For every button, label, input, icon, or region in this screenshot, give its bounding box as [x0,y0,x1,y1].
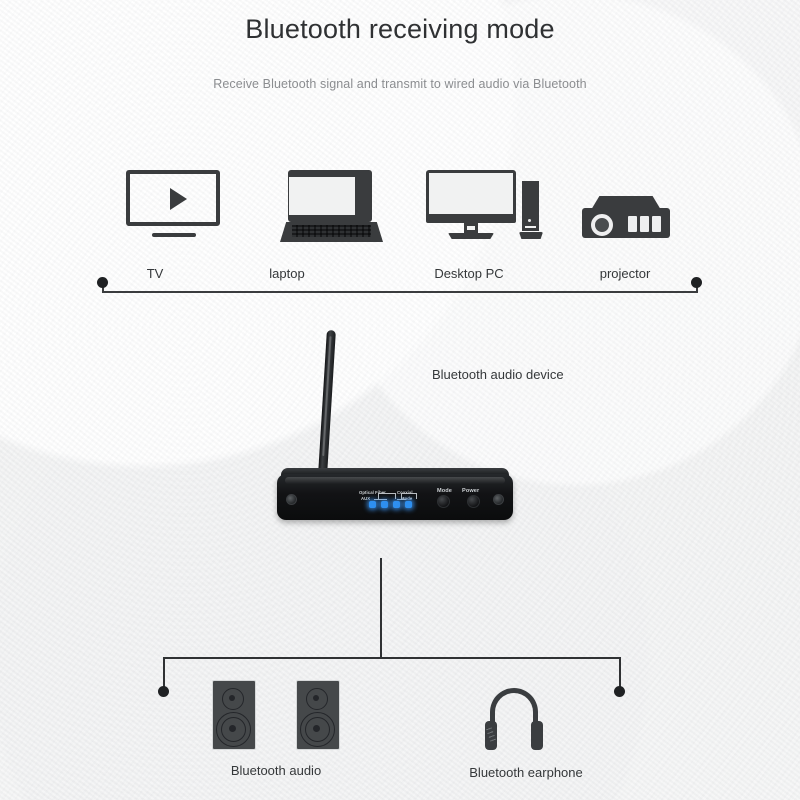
play-triangle-icon [170,188,187,210]
diagram-canvas: Bluetooth receiving mode Receive Bluetoo… [0,0,800,800]
device-screw-right [493,494,504,505]
output-label-bluetooth-audio: Bluetooth audio [231,763,321,778]
monitor-bottom-bar [426,214,516,223]
device-screw-left [286,494,297,505]
bracket-line [163,657,621,659]
output-label-bluetooth-earphone: Bluetooth earphone [469,765,582,780]
mode-button[interactable] [437,495,450,508]
projector-vent [652,216,661,232]
status-led [393,501,400,508]
earphone-bud-right [531,721,543,750]
laptop-keyboard [292,225,371,237]
sources-bracket [96,276,704,300]
tv-stand [152,233,196,237]
tv-icon [126,170,224,240]
projector-lens [591,214,613,236]
device-highlight [285,477,505,484]
bracket-end-dot-right [614,686,625,697]
desktop-pc-icon [426,170,544,242]
speaker-tweeter-dot [229,695,235,701]
speaker-woofer-dot [313,725,320,732]
status-led [381,501,388,508]
laptop-icon [280,170,383,242]
monitor-foot [448,233,494,239]
device-caption: Bluetooth audio device [432,367,564,382]
monitor-neck [464,223,478,233]
status-led [405,501,412,508]
bracket-line [102,291,698,293]
antenna-icon [318,330,336,476]
speaker-tweeter-dot [313,695,319,701]
projector-vent [628,216,637,232]
status-led [369,501,376,508]
power-button[interactable] [467,495,480,508]
page-subtitle: Receive Bluetooth signal and transmit to… [0,77,800,91]
pc-power-led [528,219,531,222]
page-title: Bluetooth receiving mode [0,14,800,45]
panel-label-mode-button: Mode [437,488,452,494]
bracket-stub-right [619,657,621,689]
bracket-stub-left [163,657,165,689]
panel-label-power-button: Power [462,488,479,494]
neckband-earphone-icon [482,688,546,748]
monitor-frame [426,170,516,220]
pc-tower-base [519,232,543,239]
bracket-end-dot-left [97,277,108,288]
speaker-woofer-dot [229,725,236,732]
projector-vent [640,216,649,232]
projector-icon [582,196,670,242]
laptop-screen [289,177,355,215]
device-connector-line [380,558,382,658]
panel-underline-aux [374,499,387,500]
antenna-highlight [322,336,331,456]
panel-underline-mode [397,499,406,500]
bracket-end-dot-left [158,686,169,697]
bracket-end-dot-right [691,277,702,288]
bluetooth-receiver-icon: Optical Fiber AUX Coaxial Mode Mode Powe… [277,468,513,522]
panel-label-aux: AUX [361,496,370,501]
